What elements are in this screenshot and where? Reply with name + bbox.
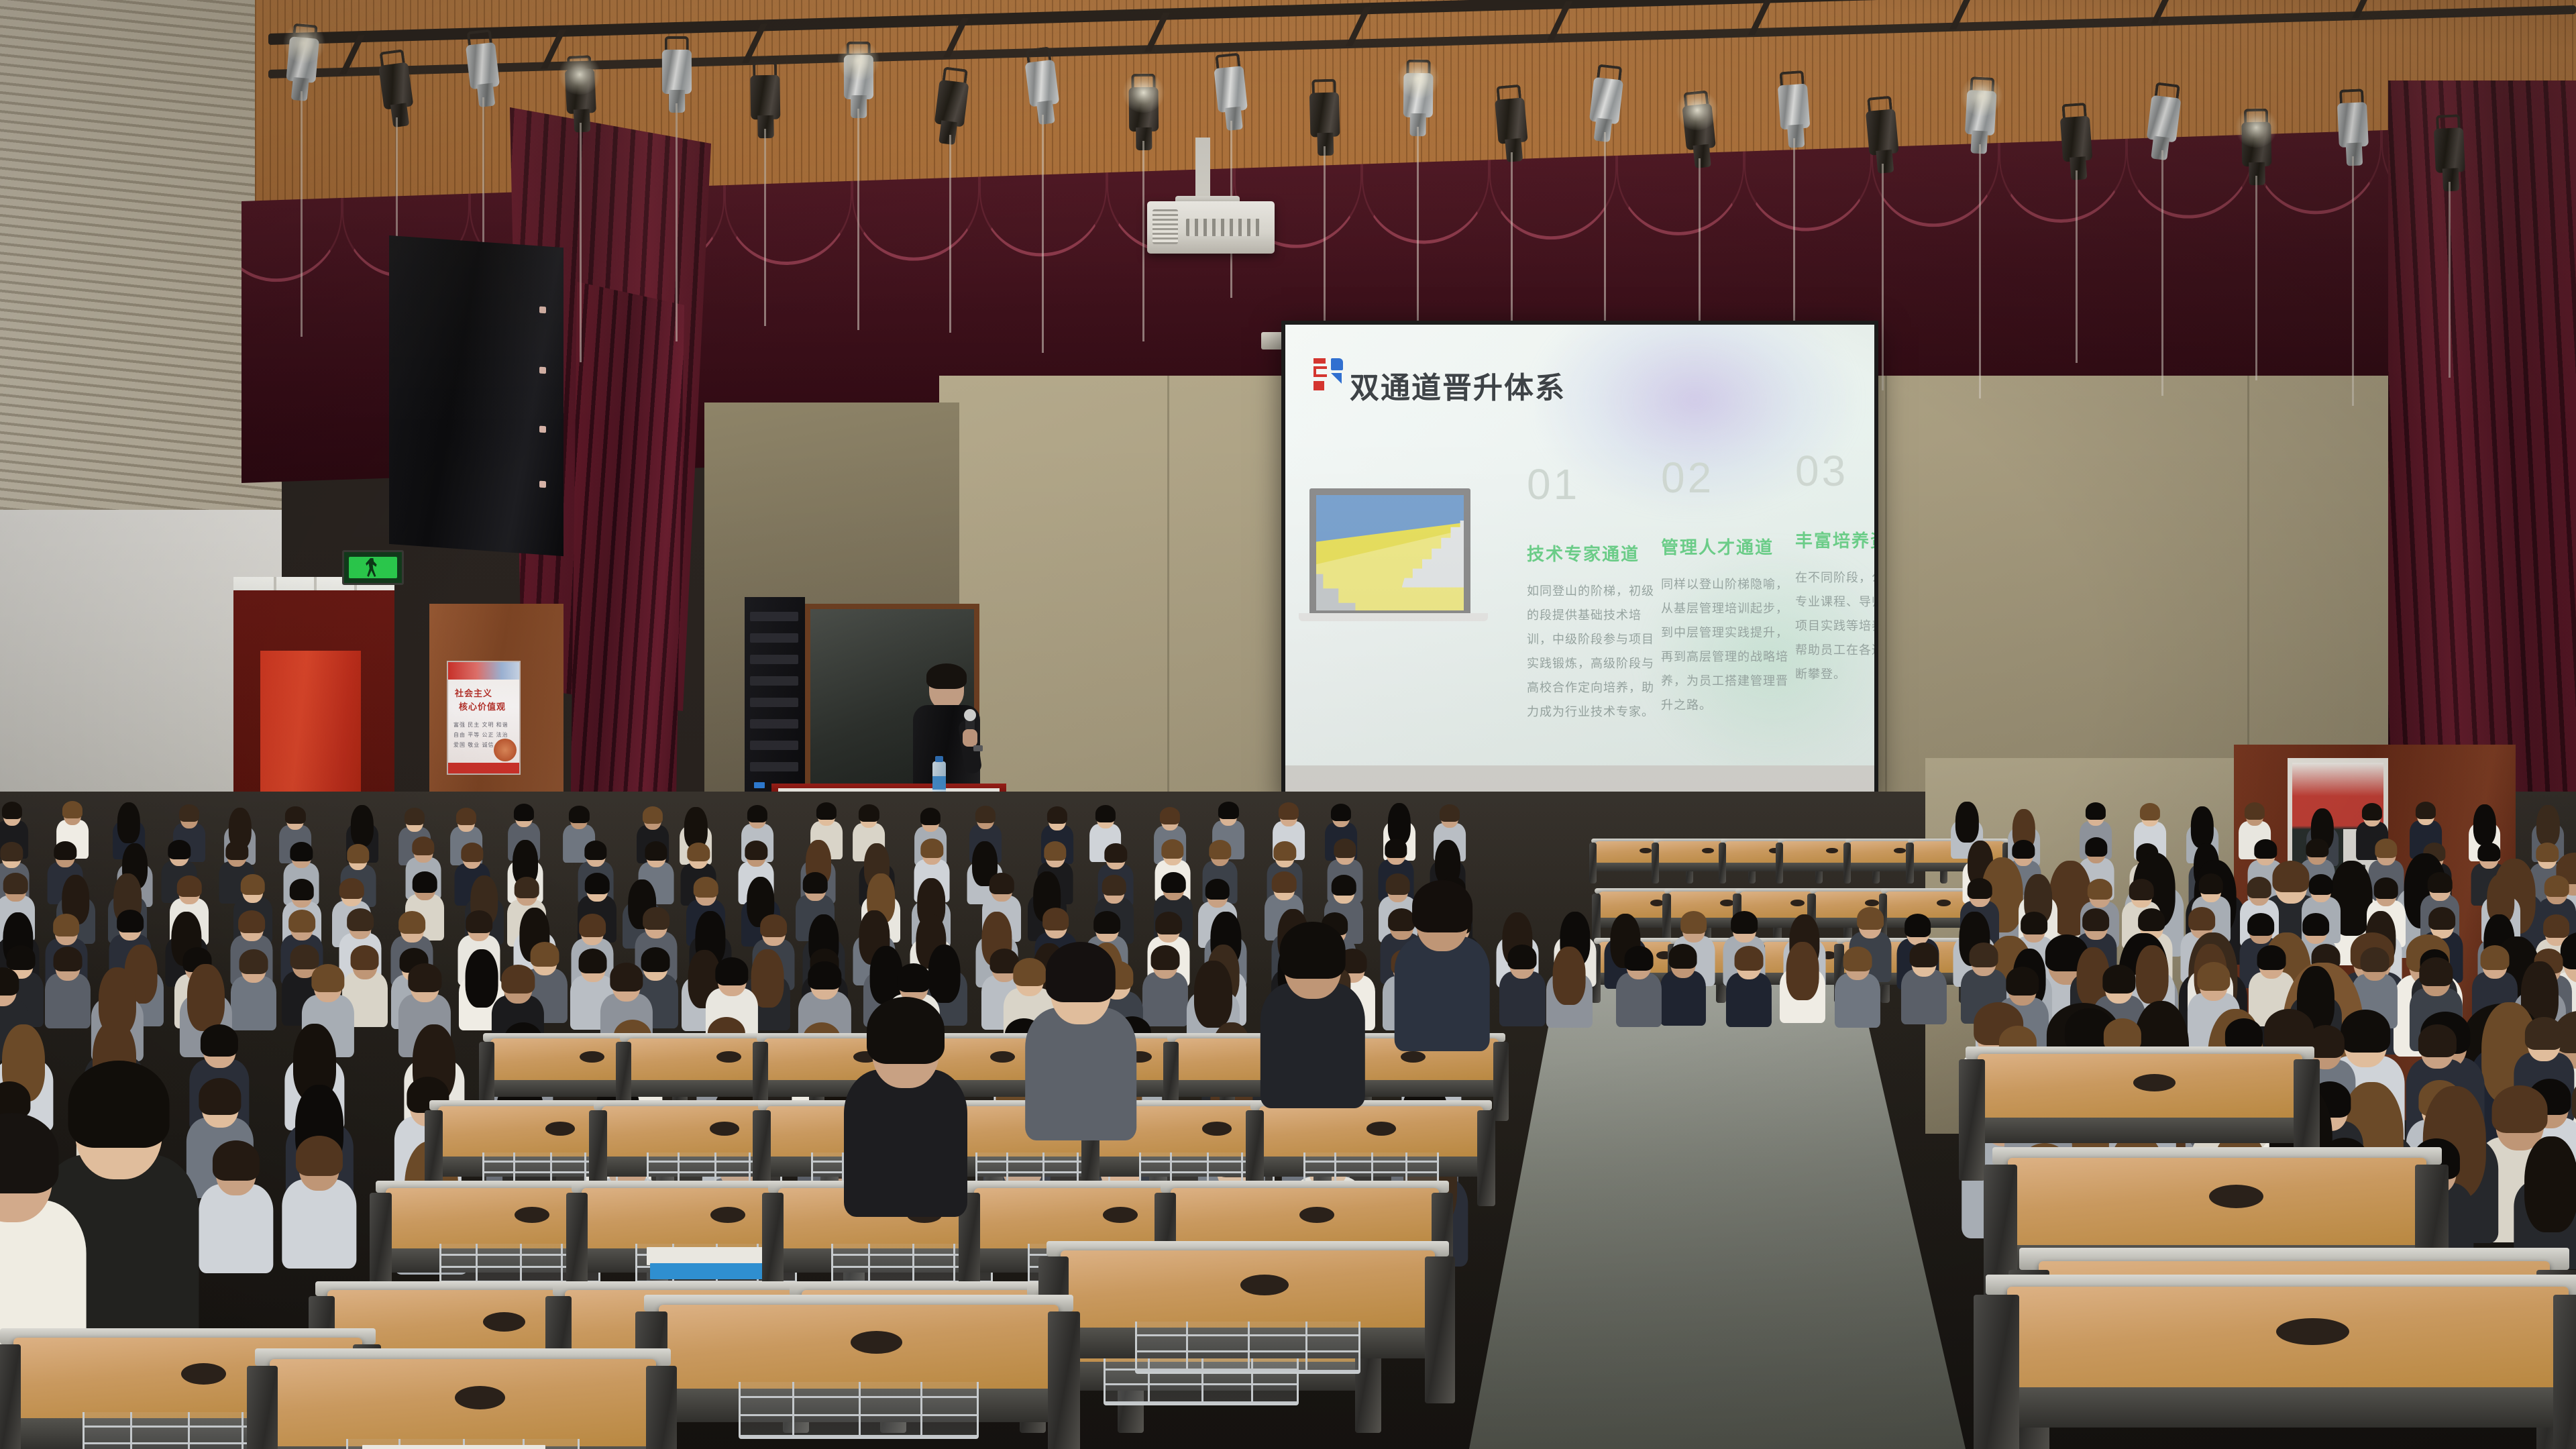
stage-light-13: [1403, 72, 1433, 134]
lamp-safety-cable: [1882, 164, 1884, 390]
stage-light-10: [1128, 87, 1159, 149]
audience-hair: [989, 873, 1014, 894]
poster-line-2: 核心价值观: [459, 700, 506, 712]
book-in-basket: [362, 1445, 545, 1449]
audience-hair: [1955, 802, 1978, 843]
seat-side-frame: [1048, 1311, 1080, 1449]
audience-hair: [288, 910, 315, 932]
audience-hair: [405, 808, 425, 825]
audience-hair: [579, 914, 606, 936]
audience-hair: [1385, 839, 1407, 858]
seat-side-frame: [1425, 1256, 1455, 1403]
audience-hair: [1272, 871, 1297, 893]
seat-backrest: [659, 1305, 1058, 1392]
audience-hair: [1553, 947, 1586, 1005]
audience-hair: [1274, 841, 1296, 861]
audience-hair: [1205, 879, 1230, 900]
audience-hair: [1624, 946, 1653, 971]
column-body: 如同登山的阶梯，初级的段提供基础技术培训，中级阶段参与项目实践锻炼，高级阶段与高…: [1527, 579, 1654, 724]
audience-hair: [1102, 875, 1127, 896]
audience-hair: [645, 841, 667, 861]
seat-side-frame: [1974, 1295, 2019, 1449]
audience-hair: [2525, 1017, 2563, 1050]
line-array-loudspeaker: [389, 235, 563, 556]
audience-hair: [515, 877, 539, 898]
audience-hair: [2198, 873, 2223, 895]
audience-hair: [2245, 802, 2265, 820]
audience-hair: [239, 910, 266, 933]
projector-ports: [1186, 219, 1260, 236]
audience-member: [1780, 938, 1825, 1022]
audience-hair: [0, 1113, 59, 1193]
lamp-safety-cable: [1417, 127, 1419, 323]
lamp-safety-cable: [1142, 141, 1144, 341]
seat-side-frame: [1493, 1042, 1509, 1122]
audience-hair: [2006, 967, 2039, 996]
audience-hair: [53, 947, 82, 971]
audience-hair: [2, 802, 22, 819]
seat-side-frame: [0, 1344, 21, 1449]
audience-hair: [456, 808, 476, 825]
audience-torso: [1726, 973, 1772, 1027]
audience-hair: [1095, 805, 1116, 822]
seat-backrest: [1259, 1106, 1484, 1159]
audience-member: [46, 943, 91, 1027]
audience-torso: [1025, 1008, 1136, 1140]
seat-backrest: [1978, 1054, 2302, 1120]
audience-hair: [816, 802, 837, 820]
slide-content: 双通道晋升体系 01 技术专家通道 如同登山的阶梯，初级的段提供基础技术培训，中…: [1285, 325, 1874, 796]
audience-hair: [2429, 907, 2456, 930]
audience-member: [1902, 938, 1947, 1023]
audience-hair: [1155, 912, 1182, 934]
laptop-illustration: [1309, 488, 1470, 616]
audience-hair: [1680, 911, 1707, 934]
audience-hair: [1161, 872, 1186, 894]
column-body: 同样以登山阶梯隐喻，从基层管理培训起步，到中层管理实践提升，再到高层管理的战略培…: [1661, 572, 1788, 717]
audience-hair: [1105, 843, 1127, 863]
lamp-safety-cable: [1979, 144, 1981, 398]
column-body: 在不同阶段，公司提供专业课程、导师指导、项目实践等培养资源，帮助员工在各通道上不…: [1795, 566, 1874, 686]
slide-column-2: 02 管理人才通道 同样以登山阶梯隐喻，从基层管理培训起步，到中层管理实践提升，…: [1661, 456, 1788, 717]
ceiling-projector: [1147, 201, 1275, 254]
audience-hair: [2544, 875, 2569, 897]
audience-hair: [1786, 942, 1819, 1000]
audience-member: [1726, 942, 1771, 1026]
laptop-base: [1299, 613, 1488, 621]
lamp-safety-cable: [2076, 170, 2078, 363]
lamp-safety-cable: [1042, 115, 1044, 353]
audience-hair: [694, 877, 718, 898]
audience-hair: [808, 961, 841, 990]
stage-curtain-right: [2388, 80, 2576, 792]
audience-member: [1547, 943, 1592, 1027]
lamp-safety-cable: [2161, 150, 2163, 396]
lamp-safety-cable: [2352, 156, 2354, 406]
audience-hair: [1904, 914, 1931, 936]
audience-hair: [2102, 965, 2135, 994]
audience-hair: [867, 997, 945, 1064]
lecture-hall-seat[interactable]: [1046, 1241, 1449, 1395]
stage-light-22: [2241, 122, 2272, 184]
seat-side-frame: [1662, 894, 1671, 943]
audience-member: [282, 1129, 356, 1267]
audience-hair: [1046, 942, 1116, 1002]
audience-torso: [1499, 971, 1545, 1026]
audience-hair: [1412, 880, 1472, 932]
audience-hair: [2225, 1018, 2263, 1051]
company-logo-mark: [1313, 358, 1344, 390]
lamp-safety-cable: [949, 135, 951, 333]
audience-hair: [2420, 957, 2453, 986]
audience-hair: [226, 841, 248, 860]
wire-book-basket: [346, 1439, 579, 1449]
seat-side-frame: [1652, 843, 1659, 883]
column-number: 01: [1527, 463, 1654, 506]
audience-hair: [239, 949, 268, 974]
foreground-viewer-center: [845, 986, 966, 1214]
audience-hair: [1044, 841, 1066, 861]
audience-member: [231, 945, 276, 1030]
seat-side-frame: [1959, 1059, 1985, 1181]
audience-hair: [1279, 922, 1346, 979]
emergency-exit-sign: [342, 550, 404, 585]
audience-torso: [844, 1069, 967, 1217]
lecture-hall-scene: 双通道晋升体系 01 技术专家通道 如同登山的阶梯，初级的段提供基础技术培训，中…: [0, 0, 2576, 1449]
audience-hair: [1160, 807, 1180, 824]
audience-hair: [2374, 877, 2399, 899]
audience-hair: [1668, 944, 1697, 969]
audience-hair: [502, 965, 535, 994]
projection-screen: 双通道晋升体系 01 技术专家通道 如同登山的阶梯，初级的段提供基础技术培训，中…: [1281, 321, 1878, 800]
audience-hair: [1910, 943, 1939, 967]
audience-hair: [199, 1078, 241, 1115]
audience-member: [1835, 943, 1880, 1027]
audience-hair: [3, 873, 28, 894]
stage-light-6: [751, 75, 781, 138]
audience-hair: [921, 839, 943, 858]
audience-torso: [1660, 971, 1706, 1025]
lecture-hall-seat[interactable]: [644, 1295, 1073, 1449]
audience-hair: [1508, 945, 1537, 969]
audience-hair: [179, 804, 199, 822]
audience-hair: [1331, 804, 1351, 821]
audience-hair: [2088, 879, 2112, 900]
audience-hair: [747, 805, 767, 822]
seat-rail: [1986, 1387, 2576, 1428]
column-heading: 丰富培养资源: [1795, 527, 1874, 552]
audience-hair: [413, 871, 437, 893]
audience-hair: [117, 910, 144, 932]
audience-torso: [1835, 973, 1880, 1028]
seat-side-frame: [646, 1366, 678, 1449]
seat-backrest: [1061, 1250, 1435, 1331]
lamp-safety-cable: [2255, 176, 2257, 380]
audience-hair: [2197, 962, 2230, 991]
audience-hair: [975, 806, 996, 823]
stage-light-7: [844, 55, 873, 117]
audience-hair: [643, 806, 663, 824]
audience-hair: [117, 802, 140, 843]
audience-hair: [1047, 806, 1067, 824]
audience-hair: [1279, 802, 1299, 820]
lamp-safety-cable: [764, 129, 766, 326]
audience-hair: [412, 837, 434, 856]
foreground-viewer-gray-tee: [1026, 932, 1135, 1138]
slide-title: 双通道晋升体系: [1350, 364, 1566, 407]
audience-hair: [53, 914, 80, 936]
audience-member: [1660, 940, 1705, 1024]
audience-hair: [1334, 839, 1356, 858]
audience-member: [1500, 941, 1545, 1026]
audience-hair: [0, 967, 19, 996]
audience-torso: [1394, 936, 1490, 1051]
seat-side-frame: [1589, 843, 1597, 883]
audience-hair: [1161, 839, 1183, 859]
audience-hair: [2086, 802, 2106, 820]
poster-line-1: 社会主义: [455, 686, 492, 699]
seat-side-frame: [1776, 843, 1783, 883]
projector-vent: [1152, 209, 1178, 244]
column-number: 02: [1661, 456, 1788, 499]
audience-hair: [1094, 911, 1121, 934]
book-in-basket: [650, 1263, 769, 1279]
column-heading: 管理人才通道: [1661, 534, 1788, 559]
audience-hair: [2416, 802, 2436, 819]
stage-light-23: [2337, 102, 2369, 165]
presenter-hand: [963, 729, 977, 747]
audience-hair: [2140, 803, 2160, 820]
audience-hair: [290, 842, 312, 861]
audience-hair: [514, 804, 534, 821]
audience-hair: [350, 945, 379, 970]
audience-torso: [282, 1179, 356, 1269]
audience-hair: [859, 804, 879, 822]
audience-member: [1617, 942, 1662, 1026]
audience-torso: [199, 1184, 273, 1273]
audience-hair: [240, 874, 265, 896]
audience-hair: [1150, 945, 1179, 970]
audience-hair: [2428, 872, 2453, 894]
lamp-safety-cable: [301, 91, 303, 337]
audience-hair: [285, 806, 305, 824]
column-heading: 技术专家通道: [1527, 541, 1654, 566]
seat-side-frame: [1843, 843, 1851, 883]
audience-hair: [1968, 878, 1992, 900]
audience-hair: [2481, 945, 2510, 970]
lamp-safety-cable: [676, 103, 678, 341]
audience-hair: [289, 879, 314, 900]
lamp-safety-cable: [857, 109, 859, 329]
seat-side-frame: [247, 1366, 278, 1449]
lamp-safety-cable: [580, 123, 582, 362]
audience-hair: [1218, 802, 1238, 819]
stage-light-12: [1309, 93, 1340, 155]
slide-column-1: 01 技术专家通道 如同登山的阶梯，初级的段提供基础技术培训，中级阶段参与项目实…: [1527, 463, 1654, 724]
audience-torso: [1260, 983, 1364, 1108]
stage-light-24: [2434, 127, 2466, 191]
audience-hair: [347, 844, 369, 863]
audience-hair: [2524, 1136, 2576, 1232]
audience-hair: [1042, 908, 1069, 930]
seat-backrest: [2008, 1158, 2426, 1248]
audience-hair: [2418, 1024, 2456, 1057]
foreground-viewer-dark: [1261, 912, 1364, 1106]
wire-book-basket: [739, 1382, 979, 1439]
audience-hair: [569, 806, 589, 823]
audience-hair: [54, 841, 76, 861]
audience-hair: [1843, 947, 1872, 971]
audience-hair: [745, 841, 767, 860]
staircase-illustration: [1316, 495, 1464, 610]
audience-hair: [177, 875, 202, 897]
stage-light-19: [1964, 90, 1996, 153]
stage-light-5: [662, 50, 692, 111]
stage-light-4: [565, 68, 597, 131]
audience-hair: [2309, 874, 2334, 896]
audience-hair: [347, 908, 374, 931]
seat-side-frame: [1719, 843, 1726, 883]
wristwatch: [973, 745, 983, 751]
presenter-with-microphone: [909, 667, 983, 795]
audience-hair: [2492, 1085, 2548, 1134]
audience-hair: [339, 878, 364, 900]
audience-hair: [311, 964, 344, 993]
audience-hair: [295, 1136, 342, 1177]
stage-side-curtain: [570, 282, 684, 865]
audience-hair: [201, 1024, 238, 1057]
seat-side-frame: [1477, 1110, 1495, 1206]
audience-hair: [409, 963, 441, 992]
audience-hair: [2362, 803, 2382, 820]
audience-hair: [688, 843, 710, 862]
audience-hair: [643, 907, 669, 930]
column-number: 03: [1795, 449, 1874, 492]
audience-hair: [351, 805, 374, 846]
seat-side-frame: [2553, 1295, 2576, 1449]
audience-hair: [466, 910, 492, 933]
audience-hair: [715, 957, 748, 986]
seat-rail: [1966, 1118, 2314, 1143]
audience-hair: [398, 911, 425, 934]
audience-hair: [2129, 879, 2154, 900]
seat-backrest: [2007, 1287, 2569, 1391]
lecture-hall-seat[interactable]: [255, 1348, 671, 1449]
audience-hair: [168, 840, 191, 859]
poster-seal: [494, 739, 517, 761]
foreground-viewer-navy: [1395, 872, 1489, 1049]
audience-hair: [1, 842, 23, 861]
lamp-safety-cable: [2449, 182, 2451, 377]
audience-hair: [1209, 840, 1231, 859]
seat-side-frame: [1906, 843, 1913, 883]
seat-backrest: [270, 1359, 657, 1449]
lecture-hall-seat[interactable]: [1986, 1275, 2576, 1449]
audience-hair: [585, 873, 610, 894]
audience-hair: [760, 914, 787, 937]
audience-hair: [62, 801, 83, 818]
audience-hair: [2085, 837, 2107, 857]
running-man-icon: [365, 558, 378, 577]
audience-hair: [1970, 943, 1998, 967]
audience-hair: [461, 843, 483, 862]
audience-member: [199, 1134, 272, 1272]
wire-book-basket: [1135, 1322, 1360, 1374]
audience-hair: [1332, 875, 1356, 896]
audience-hair: [803, 872, 828, 894]
audience-hair: [213, 1140, 260, 1181]
audience-hair: [584, 841, 606, 860]
audience-hair: [920, 808, 941, 825]
audience-hair: [1440, 804, 1460, 822]
audience-torso: [1616, 973, 1662, 1027]
audience-hair: [1731, 911, 1758, 934]
audience-torso: [1901, 969, 1947, 1024]
audience-hair: [2247, 877, 2272, 898]
presenter-hair: [926, 663, 967, 689]
audience-hair: [1857, 907, 1884, 930]
audience-hair: [610, 963, 643, 991]
audience-hair: [1734, 946, 1763, 971]
socialist-core-values-poster: 社会主义 核心价值观 富强 民主 文明 和谐 自由 平等 公正 法治 爱国 敬业…: [447, 661, 521, 775]
slide-column-3: 03 丰富培养资源 在不同阶段，公司提供专业课程、导师指导、项目实践等培养资源，…: [1795, 449, 1874, 686]
